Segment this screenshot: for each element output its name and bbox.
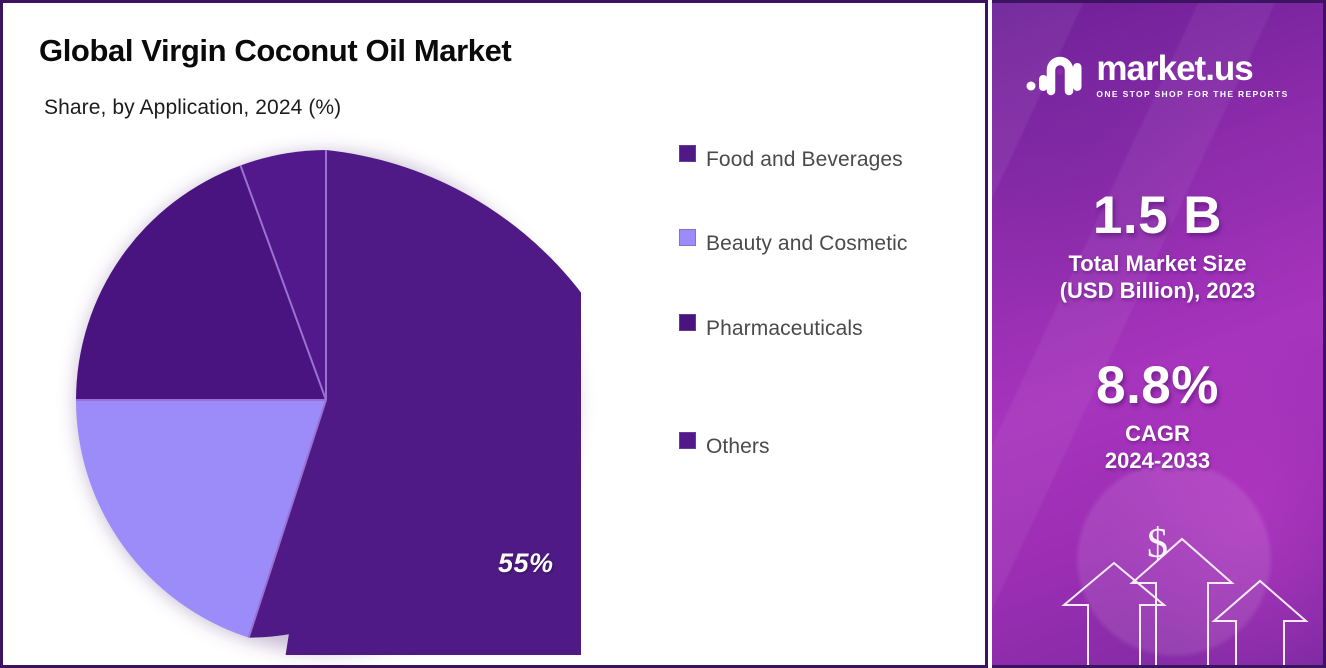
brand-logo[interactable]: market.us ONE STOP SHOP FOR THE REPORTS (992, 51, 1323, 99)
legend-item-beauty-and-cosmetic[interactable]: Beauty and Cosmetic (679, 225, 969, 262)
legend-swatch-icon (679, 314, 696, 331)
pie-chart: 55% (66, 140, 586, 660)
market-us-logo-icon (1026, 53, 1084, 97)
infographic-root: Global Virgin Coconut Oil Market Share, … (0, 0, 1326, 668)
cagr-caption-line1: CAGR (1125, 421, 1190, 446)
brand-side-panel: market.us ONE STOP SHOP FOR THE REPORTS … (992, 0, 1326, 668)
cagr-stat: 8.8% CAGR 2024-2033 (992, 358, 1323, 475)
legend-swatch-icon (679, 229, 696, 246)
legend-item-label: Pharmaceuticals (706, 310, 863, 347)
cagr-caption: CAGR 2024-2033 (992, 420, 1323, 475)
growth-artwork: $ (992, 505, 1323, 665)
market-size-stat: 1.5 B Total Market Size (USD Billion), 2… (992, 188, 1323, 305)
market-size-caption-line1: Total Market Size (1068, 251, 1246, 276)
legend-item-label: Food and Beverages (706, 141, 903, 178)
cagr-value: 8.8% (992, 358, 1323, 414)
brand-logo-word: market.us (1096, 51, 1252, 86)
legend-item-pharmaceuticals[interactable]: Pharmaceuticals (679, 310, 969, 347)
market-size-caption-line2: (USD Billion), 2023 (992, 277, 1323, 305)
brand-logo-tagline: ONE STOP SHOP FOR THE REPORTS (1096, 89, 1288, 99)
chart-legend: Food and Beverages Beauty and Cosmetic P… (679, 141, 969, 506)
growth-arrows-icon (992, 505, 1326, 665)
legend-item-label: Others (706, 428, 770, 465)
page-title: Global Virgin Coconut Oil Market (39, 33, 511, 69)
pie-slice-value-label: 55% (498, 548, 554, 579)
legend-item-food-and-beverages[interactable]: Food and Beverages (679, 141, 969, 178)
legend-item-label: Beauty and Cosmetic (706, 225, 908, 262)
chart-panel: Global Virgin Coconut Oil Market Share, … (0, 0, 988, 668)
cagr-caption-line2: 2024-2033 (992, 447, 1323, 475)
market-size-value: 1.5 B (992, 188, 1323, 244)
legend-swatch-icon (679, 145, 696, 162)
legend-item-others[interactable]: Others (679, 428, 969, 465)
legend-swatch-icon (679, 432, 696, 449)
market-size-caption: Total Market Size (USD Billion), 2023 (992, 250, 1323, 305)
chart-subtitle: Share, by Application, 2024 (%) (44, 96, 341, 120)
